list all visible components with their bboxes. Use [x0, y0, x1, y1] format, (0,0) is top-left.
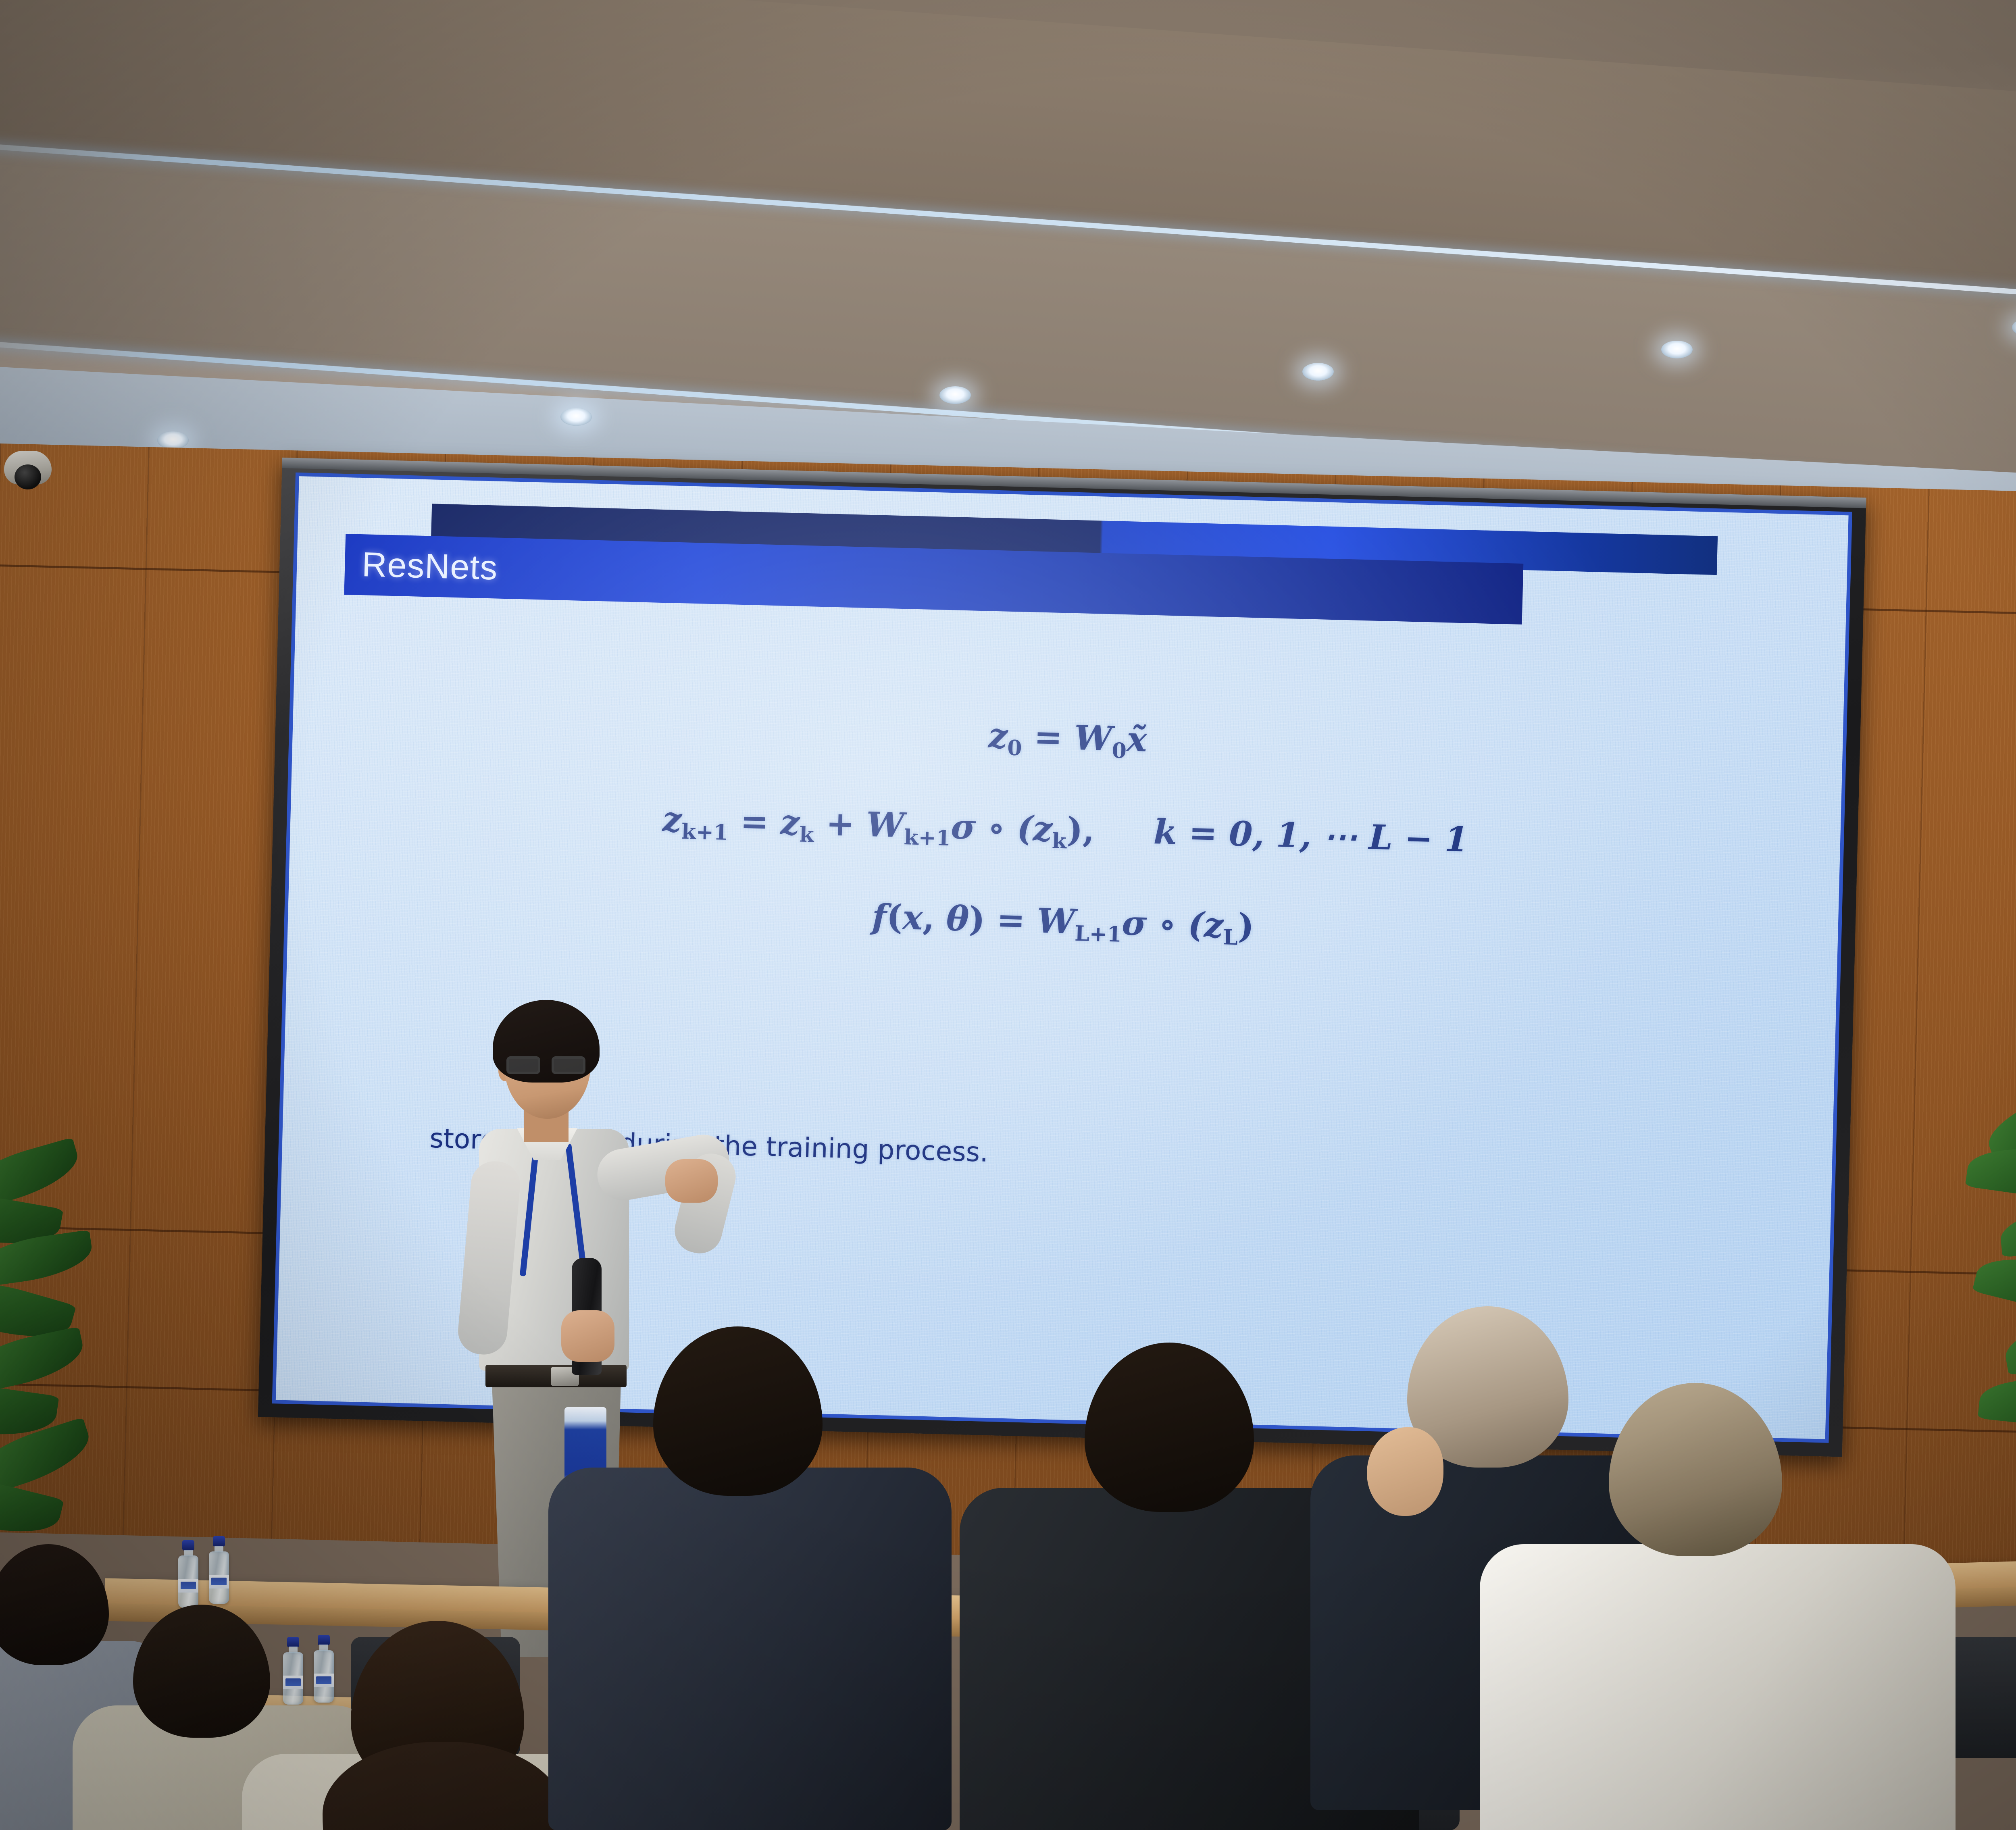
- plant-leaf: [1972, 1245, 2016, 1325]
- ceiling-downlight: [1661, 341, 1693, 358]
- eq2-index-range: k = 0, 1, ⋯ L − 1: [1153, 812, 1469, 860]
- eyeglasses-icon: [506, 1056, 589, 1075]
- eyeglass-lens: [506, 1056, 540, 1074]
- water-bottle[interactable]: [177, 1540, 199, 1608]
- eq1-equals: =: [1033, 716, 1063, 757]
- eq3-x: x: [902, 897, 923, 937]
- eq2-arg: (z: [1016, 808, 1053, 849]
- eyeglass-lens: [552, 1056, 585, 1074]
- eq2-equals: =: [740, 801, 769, 842]
- eq3-compose: ∘: [1158, 904, 1177, 944]
- eq2-plus: +: [825, 803, 855, 844]
- equation-output-layer: f(x, θ) = WL+1σ ∘ (zL): [288, 881, 1839, 965]
- bottle-cap: [182, 1540, 194, 1551]
- bottle-label: [314, 1674, 334, 1687]
- plant-leaf: [0, 1326, 88, 1395]
- plant-leaf: [1998, 1199, 2016, 1257]
- eq1-rhs: W: [1074, 718, 1113, 758]
- ceiling-downlight: [939, 386, 971, 404]
- attendee-body: [1480, 1544, 1956, 1830]
- eq3-sigma: σ: [1121, 903, 1147, 943]
- bottle-cap: [318, 1635, 330, 1645]
- eq1-rhs-sub: 0: [1112, 738, 1127, 763]
- eq1-lhs-sub: 0: [1007, 736, 1023, 761]
- camera-lens-icon: [15, 464, 41, 489]
- eq3-close: ): [968, 899, 985, 939]
- ceiling-downlight: [560, 408, 592, 426]
- eq3-arg-sub: L: [1223, 925, 1238, 950]
- eq2-sigma: σ: [950, 806, 976, 847]
- eq2-term1-sub: k: [799, 822, 814, 847]
- attendee-body: [548, 1468, 952, 1830]
- ceiling-downlight: [157, 431, 189, 449]
- water-bottle[interactable]: [208, 1536, 230, 1604]
- eq2-arg-sub: k: [1052, 829, 1067, 854]
- plant-leaf: [1978, 1372, 2016, 1433]
- plant-leaf: [2001, 1307, 2016, 1376]
- lanyard-strap: [565, 1143, 587, 1276]
- eq3-equals: =: [996, 899, 1026, 940]
- eq2-term1: z: [780, 802, 800, 842]
- presenter-hand-holding-mic: [561, 1310, 614, 1362]
- presenter-right-fist: [665, 1159, 718, 1203]
- eq3-weight: W: [1037, 900, 1076, 941]
- eq2-weight: W: [866, 804, 905, 845]
- plant-leaf: [2014, 1431, 2016, 1485]
- eq3-theta: θ: [946, 898, 970, 939]
- ceiling-downlight: [1302, 363, 1334, 381]
- eq3-weight-sub: L+1: [1075, 921, 1122, 947]
- eq3-open: (: [886, 897, 903, 937]
- slide-title: ResNets: [344, 544, 498, 588]
- eq1-var: x̃: [1126, 719, 1148, 759]
- slide-equation-block: z0 = W0x̃ zk+1 = zk + Wk+1σ ∘ (zk), k = …: [287, 698, 1843, 1012]
- eq3-f: f: [872, 896, 887, 937]
- eq3-comma: ,: [922, 897, 935, 938]
- potted-plant-right: [1968, 1089, 2016, 1597]
- eq2-compose: ∘: [987, 807, 1006, 847]
- equation-initial-layer: z0 = W0x̃: [292, 698, 1843, 781]
- bottle-cap: [287, 1637, 299, 1647]
- water-bottle[interactable]: [313, 1635, 335, 1703]
- eq1-lhs: z: [988, 716, 1008, 756]
- eq2-weight-sub: k+1: [904, 825, 951, 851]
- bottle-label: [178, 1579, 198, 1593]
- equation-residual-update: zk+1 = zk + Wk+1σ ∘ (zk), k = 0, 1, ⋯ L …: [290, 790, 1841, 873]
- eq3-arg-close: ): [1237, 906, 1254, 946]
- eq3-arg: (z: [1187, 904, 1224, 945]
- bottle-cap: [213, 1536, 225, 1547]
- eq2-lhs: z: [662, 799, 682, 839]
- attendee-hand: [1367, 1427, 1443, 1516]
- bottle-label: [283, 1676, 303, 1689]
- presenter-lanyard: [527, 1143, 587, 1276]
- eq2-arg-close: ),: [1066, 809, 1095, 850]
- lecture-room-photo: ResNets z0 = W0x̃ zk+1 = zk + Wk+1σ ∘: [0, 0, 2016, 1830]
- bottle-label: [209, 1575, 229, 1588]
- water-bottle[interactable]: [282, 1637, 304, 1705]
- eq2-lhs-sub: k+1: [681, 819, 728, 845]
